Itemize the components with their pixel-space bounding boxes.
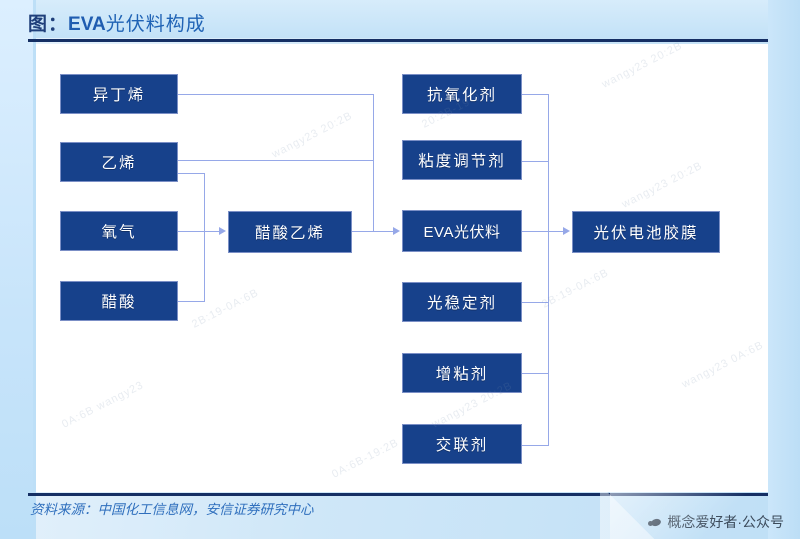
flow-box-antioxidant[interactable]: 抗氧化剂 bbox=[402, 74, 522, 114]
arrow-into-vinyl-acetate bbox=[219, 227, 226, 235]
connector-vinyl-acetate-to-eva bbox=[352, 231, 396, 232]
connector-feed-bus-vertical bbox=[373, 94, 374, 232]
arrow-into-pv-cell-film bbox=[563, 227, 570, 235]
flow-box-label: EVA光伏料 bbox=[424, 221, 501, 242]
flow-box-viscosity-modifier[interactable]: 粘度调节剂 bbox=[402, 140, 522, 180]
page-title: 图：EVA光伏料构成 bbox=[28, 12, 206, 38]
connector-ethylene-long-horizontal bbox=[178, 160, 374, 161]
corner-highlight-notch bbox=[600, 491, 660, 539]
page-title-brand: EVA bbox=[68, 14, 106, 35]
flow-box-label: 醋酸乙烯 bbox=[255, 221, 325, 243]
flow-box-label: 乙烯 bbox=[101, 151, 136, 173]
slide-right-strip bbox=[768, 0, 800, 539]
flow-box-label: 粘度调节剂 bbox=[418, 149, 506, 171]
connector-crosslinker-horizontal bbox=[522, 445, 549, 446]
connector-light-stabilizer-horizontal bbox=[522, 302, 549, 303]
page-title-rest: 光伏料构成 bbox=[106, 14, 206, 35]
flow-box-label: 抗氧化剂 bbox=[427, 83, 497, 105]
flow-box-isobutylene[interactable]: 异丁烯 bbox=[60, 74, 178, 114]
flow-box-label: 氧气 bbox=[101, 220, 136, 242]
arrow-into-eva-pv-resin bbox=[393, 227, 400, 235]
flow-box-acetic-acid[interactable]: 醋酸 bbox=[60, 281, 178, 321]
flow-box-label: 增粘剂 bbox=[436, 362, 489, 384]
connector-left-bus-to-vinyl-acetate bbox=[178, 231, 222, 232]
flow-box-eva-pv-resin[interactable]: EVA光伏料 bbox=[402, 210, 522, 252]
connector-left-bus-vertical bbox=[204, 173, 205, 302]
flow-box-tackifier[interactable]: 增粘剂 bbox=[402, 353, 522, 393]
connector-isobutylene-horizontal bbox=[178, 94, 374, 95]
page-title-prefix: 图： bbox=[28, 14, 68, 35]
flow-box-vinyl-acetate[interactable]: 醋酸乙烯 bbox=[228, 211, 352, 253]
connector-tackifier-horizontal bbox=[522, 373, 549, 374]
connector-antioxidant-horizontal bbox=[522, 94, 549, 95]
connector-viscosity-modifier-horizontal bbox=[522, 161, 549, 162]
flow-box-light-stabilizer[interactable]: 光稳定剂 bbox=[402, 282, 522, 322]
source-label: 资料来源：中国化工信息网，安信证券研究中心 bbox=[30, 500, 314, 520]
flow-box-oxygen[interactable]: 氧气 bbox=[60, 211, 178, 251]
connector-ethylene-horizontal bbox=[178, 173, 205, 174]
connector-right-bus-vertical bbox=[548, 94, 549, 446]
flow-box-crosslinker[interactable]: 交联剂 bbox=[402, 424, 522, 464]
flow-box-ethylene[interactable]: 乙烯 bbox=[60, 142, 178, 182]
flow-box-label: 异丁烯 bbox=[93, 83, 146, 105]
flow-box-label: 醋酸 bbox=[101, 290, 136, 312]
slide-canvas: 图：EVA光伏料构成 异丁烯 乙烯 氧气 醋酸 醋酸乙烯 抗氧化剂 粘度调节剂 … bbox=[0, 0, 800, 539]
flow-box-label: 光稳定剂 bbox=[427, 291, 497, 313]
flow-box-pv-cell-film[interactable]: 光伏电池胶膜 bbox=[572, 211, 720, 253]
connector-eva-to-output bbox=[522, 231, 566, 232]
title-divider bbox=[28, 39, 768, 42]
connector-acetic-acid-horizontal bbox=[178, 301, 205, 302]
flow-box-label: 光伏电池胶膜 bbox=[593, 221, 698, 243]
slide-left-strip bbox=[0, 0, 33, 539]
flow-box-label: 交联剂 bbox=[436, 433, 489, 455]
